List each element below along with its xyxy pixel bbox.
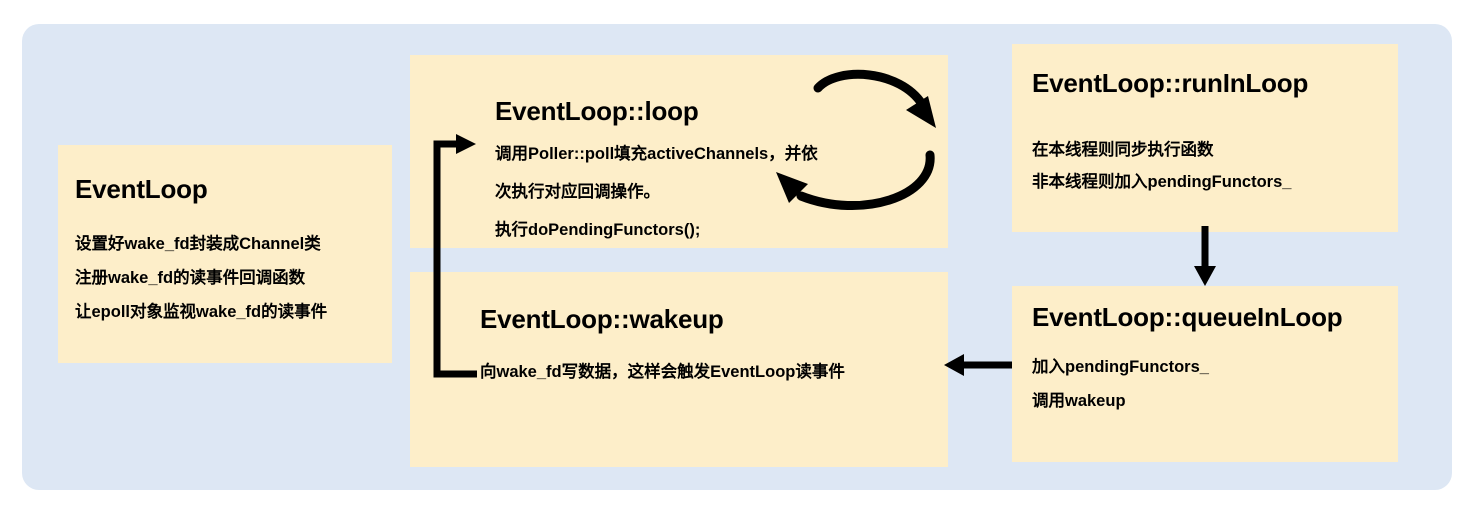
node-eventloop-queueinloop[interactable]: EventLoop::queueInLoop 加入pendingFunctors… [1012,286,1398,462]
node-eventloop-loop-line-3: 执行doPendingFunctors(); [495,211,818,249]
node-eventloop-loop[interactable]: EventLoop::loop 调用Poller::poll填充activeCh… [410,55,948,248]
node-eventloop-body: 设置好wake_fd封装成Channel类 注册wake_fd的读事件回调函数 … [75,227,327,329]
node-eventloop-line-1: 设置好wake_fd封装成Channel类 [75,227,327,261]
node-eventloop-queueinloop-body: 加入pendingFunctors_ 调用wakeup [1032,350,1209,418]
node-eventloop-loop-line-2: 次执行对应回调操作。 [495,173,818,211]
node-eventloop[interactable]: EventLoop 设置好wake_fd封装成Channel类 注册wake_f… [58,145,392,363]
node-eventloop-wakeup-line-1: 向wake_fd写数据，这样会触发EventLoop读事件 [480,357,845,387]
diagram-canvas: EventLoop 设置好wake_fd封装成Channel类 注册wake_f… [0,0,1470,508]
node-eventloop-wakeup[interactable]: EventLoop::wakeup 向wake_fd写数据，这样会触发Event… [410,272,948,467]
node-eventloop-wakeup-body: 向wake_fd写数据，这样会触发EventLoop读事件 [480,357,845,387]
node-eventloop-runinloop-body: 在本线程则同步执行函数 非本线程则加入pendingFunctors_ [1032,134,1291,198]
node-eventloop-line-2: 注册wake_fd的读事件回调函数 [75,261,327,295]
node-eventloop-runinloop-title: EventLoop::runInLoop [1032,68,1308,98]
node-eventloop-queueinloop-title: EventLoop::queueInLoop [1032,302,1342,332]
node-eventloop-runinloop-line-1: 在本线程则同步执行函数 [1032,134,1291,166]
node-eventloop-loop-body: 调用Poller::poll填充activeChannels，并依 次执行对应回… [495,135,818,249]
node-eventloop-runinloop-line-2: 非本线程则加入pendingFunctors_ [1032,166,1291,198]
node-eventloop-queueinloop-line-1: 加入pendingFunctors_ [1032,350,1209,384]
node-eventloop-title: EventLoop [75,174,208,204]
node-eventloop-runinloop[interactable]: EventLoop::runInLoop 在本线程则同步执行函数 非本线程则加入… [1012,44,1398,232]
node-eventloop-queueinloop-line-2: 调用wakeup [1032,384,1209,418]
node-eventloop-loop-title: EventLoop::loop [495,96,699,126]
node-eventloop-loop-line-1: 调用Poller::poll填充activeChannels，并依 [495,135,818,173]
node-eventloop-wakeup-title: EventLoop::wakeup [480,304,724,334]
node-eventloop-line-3: 让epoll对象监视wake_fd的读事件 [75,295,327,329]
